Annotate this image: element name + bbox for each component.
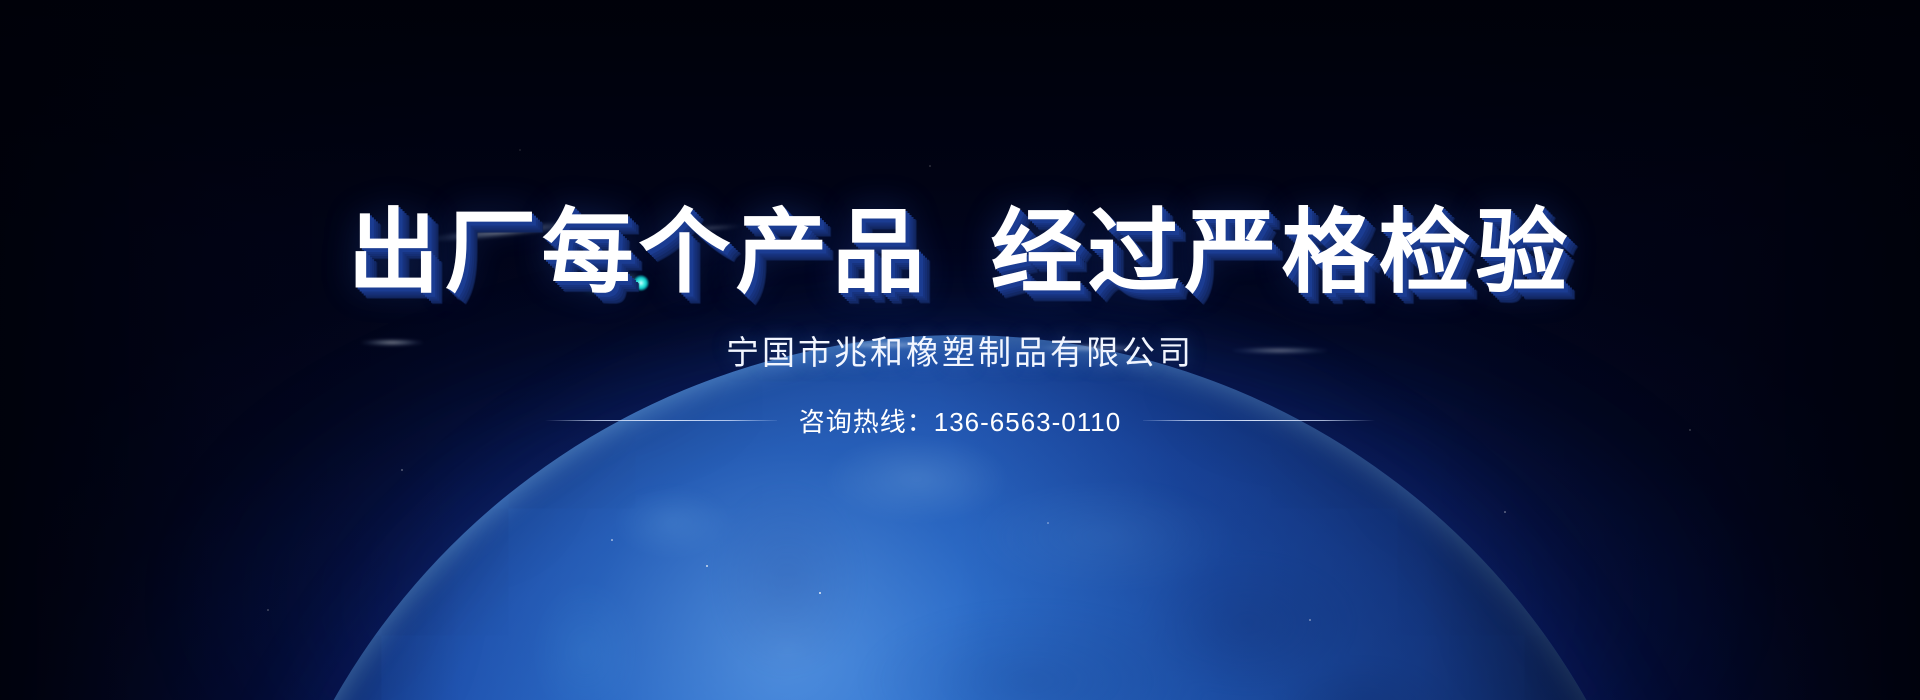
company-name: 宁国市兆和橡塑制品有限公司	[0, 302, 1920, 374]
banner-content: 出厂每个产品 经过严格检验 宁国市兆和橡塑制品有限公司 咨询热线：136-656…	[0, 0, 1920, 439]
divider-line-right	[1143, 420, 1375, 421]
hotline-row: 咨询热线：136-6563-0110	[0, 374, 1920, 439]
hotline-text[interactable]: 咨询热线：136-6563-0110	[799, 402, 1121, 439]
divider-line-left	[545, 420, 777, 421]
hero-banner: 出厂每个产品 经过严格检验 宁国市兆和橡塑制品有限公司 咨询热线：136-656…	[0, 0, 1920, 700]
banner-headline: 出厂每个产品 经过严格检验	[0, 0, 1920, 302]
